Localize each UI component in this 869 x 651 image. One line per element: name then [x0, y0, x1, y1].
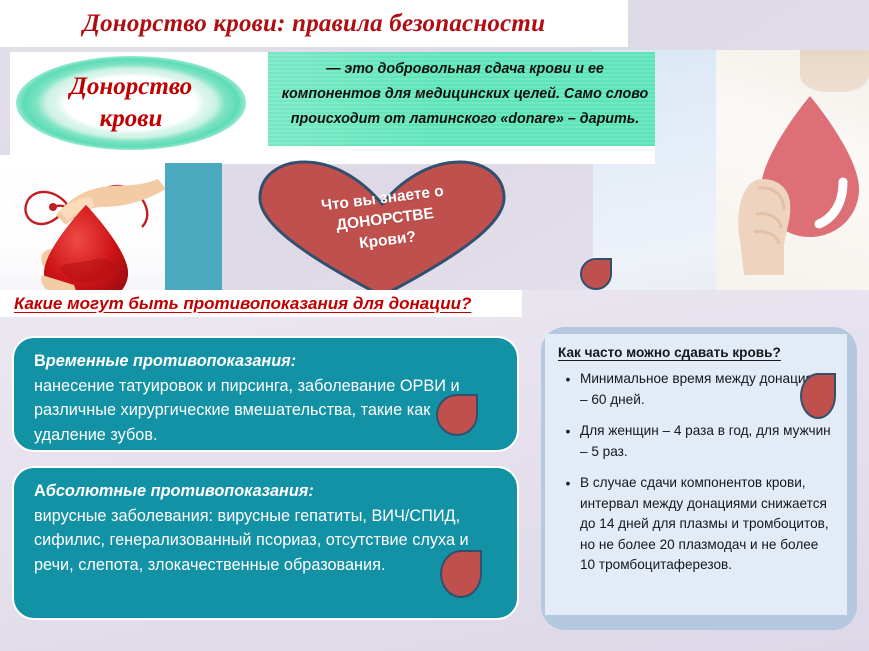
- list-item: • Минимальное время между донациями – 60…: [556, 369, 836, 410]
- temporary-contraindications-box: Временные противопоказания: нанесение та…: [12, 336, 519, 452]
- teal-accent-bar: [165, 163, 222, 290]
- absolute-heading-rest: бсолютные противопоказания:: [46, 482, 314, 500]
- photo-person-neck: [800, 50, 869, 92]
- decorative-drop-icon-2: [436, 394, 478, 436]
- absolute-contraindications-content: Абсолютные противопоказания: вирусные за…: [14, 468, 517, 577]
- photo-hand: [726, 170, 798, 275]
- bullet-icon: •: [556, 421, 580, 462]
- contraindications-banner-text: Какие могут быть противопоказания для до…: [0, 294, 471, 314]
- decorative-drop-icon-1: [580, 258, 612, 290]
- frequency-bullet-list: • Минимальное время между донациями – 60…: [556, 369, 836, 576]
- definition-text: — это добровольная сдача крови и ее комп…: [276, 57, 654, 132]
- temporary-contraindications-content: Временные противопоказания: нанесение та…: [14, 338, 517, 447]
- contraindications-banner: Какие могут быть противопоказания для до…: [0, 290, 522, 317]
- frequency-heading: Как часто можно сдавать кровь?: [558, 345, 836, 360]
- absolute-heading-first-letter: А: [34, 482, 46, 500]
- frequency-panel: Как часто можно сдавать кровь? • Минимал…: [545, 334, 847, 615]
- bullet-icon: •: [556, 473, 580, 576]
- badge-line-2: крови: [100, 103, 163, 135]
- bullet-icon: •: [556, 369, 580, 410]
- page-title: Донорство крови: правила безопасности: [83, 10, 545, 38]
- list-item-text: Минимальное время между донациями – 60 д…: [580, 369, 836, 410]
- slide-canvas: Донорство крови: правила безопасности До…: [0, 0, 869, 651]
- donation-illustration: [8, 163, 168, 290]
- badge-line-1: Донорство: [70, 71, 192, 103]
- decorative-drop-icon-3: [440, 550, 482, 598]
- temporary-contraindications-heading: Временные противопоказания:: [34, 349, 497, 374]
- temporary-heading-rest: ременные противопоказания:: [46, 352, 296, 370]
- list-item: • В случае сдачи компонентов крови, инте…: [556, 473, 836, 576]
- list-item-text: В случае сдачи компонентов крови, интерв…: [580, 473, 836, 576]
- absolute-contraindications-box: Абсолютные противопоказания: вирусные за…: [12, 466, 519, 620]
- list-item: • Для женщин – 4 раза в год, для мужчин …: [556, 421, 836, 462]
- list-item-text: Для женщин – 4 раза в год, для мужчин – …: [580, 421, 836, 462]
- absolute-contraindications-body: вирусные заболевания: вирусные гепатиты,…: [34, 504, 497, 578]
- temporary-heading-first-letter: В: [34, 352, 46, 370]
- temporary-contraindications-body: нанесение татуировок и пирсинга, заболев…: [34, 374, 497, 448]
- slide-title-bar: Донорство крови: правила безопасности: [0, 0, 628, 47]
- donorstvo-badge-label: Донорство крови: [16, 56, 246, 150]
- absolute-contraindications-heading: Абсолютные противопоказания:: [34, 479, 497, 504]
- decorative-drop-icon-4: [800, 373, 836, 419]
